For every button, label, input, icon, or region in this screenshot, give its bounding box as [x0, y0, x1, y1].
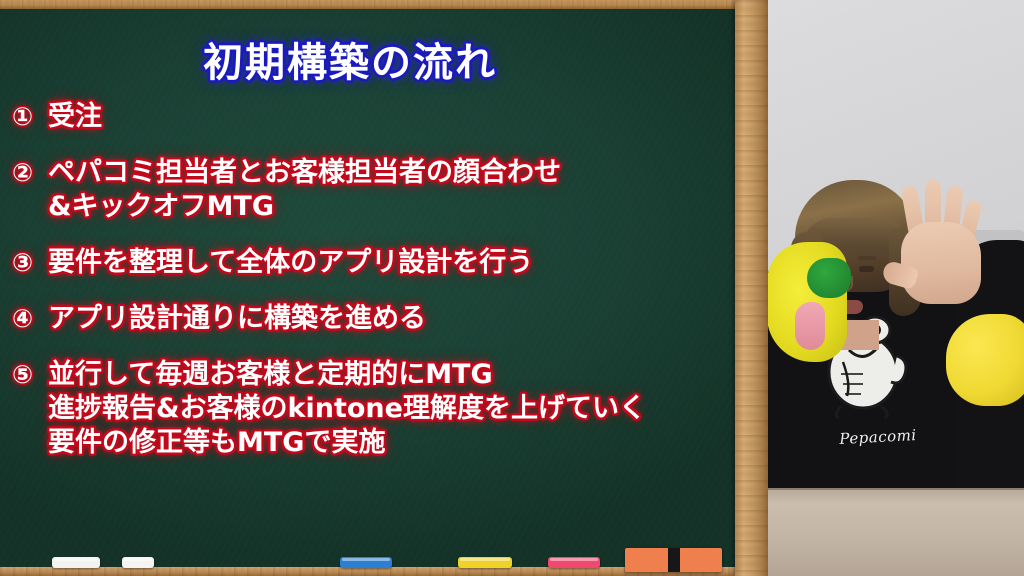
chalk-pink [548, 557, 600, 568]
list-item-lines: 受注 [48, 100, 728, 134]
slide-step-list: ① 受注 ② ペパコミ担当者とお客様担当者の顔合わせ &キックオフMTG ③ 要… [12, 100, 728, 482]
plush-toy-pink [795, 302, 825, 350]
plush-toy-yellow-2 [946, 314, 1024, 406]
list-item-marker: ② [12, 156, 48, 190]
list-item: ⑤ 並行して毎週お客様と定期的にMTG 進捗報告&お客様のkintone理解度を… [12, 358, 728, 460]
list-item-line: 受注 [48, 100, 728, 134]
list-item-line: アプリ設計通りに構築を進める [48, 302, 728, 336]
chalkboard-frame-top [0, 0, 768, 9]
presenter-eyebrow-right [858, 256, 876, 260]
list-item-line: 進捗報告&お客様のkintone理解度を上げていく [48, 392, 728, 426]
list-item: ② ペパコミ担当者とお客様担当者の顔合わせ &キックオフMTG [12, 156, 728, 224]
list-item-marker: ⑤ [12, 358, 48, 392]
list-item-marker: ③ [12, 246, 48, 280]
list-item-lines: アプリ設計通りに構築を進める [48, 302, 728, 336]
presenter: Pepacomi [767, 190, 1024, 490]
chalk-white-1 [52, 557, 100, 568]
chalk-yellow [458, 557, 512, 568]
list-item-lines: 要件を整理して全体のアプリ設計を行う [48, 246, 728, 280]
chalkboard-frame-right [735, 0, 768, 576]
presenter-raised-hand [891, 180, 995, 310]
screenshot-root: 初期構築の流れ ① 受注 ② ペパコミ担当者とお客様担当者の顔合わせ &キックオ… [0, 0, 1024, 576]
list-item: ④ アプリ設計通りに構築を進める [12, 302, 728, 336]
list-item-line: &キックオフMTG [48, 190, 728, 224]
presenter-video-pane: Pepacomi [767, 0, 1024, 576]
chalk-white-2 [122, 557, 154, 568]
list-item-line: 要件の修正等もMTGで実施 [48, 426, 728, 460]
list-item-lines: 並行して毎週お客様と定期的にMTG 進捗報告&お客様のkintone理解度を上げ… [48, 358, 728, 460]
eraser-band [668, 548, 680, 572]
desk-surface [767, 488, 1024, 576]
presenter-eye-right [859, 266, 874, 272]
list-item-marker: ① [12, 100, 48, 134]
list-item-line: ペパコミ担当者とお客様担当者の顔合わせ [48, 156, 728, 190]
list-item-line: 要件を整理して全体のアプリ設計を行う [48, 246, 728, 280]
slide-title: 初期構築の流れ [0, 30, 700, 88]
list-item-marker: ④ [12, 302, 48, 336]
palm [901, 222, 981, 304]
chalk-blue [340, 557, 392, 568]
blackboard-eraser [625, 548, 722, 572]
list-item-lines: ペパコミ担当者とお客様担当者の顔合わせ &キックオフMTG [48, 156, 728, 224]
list-item-line: 並行して毎週お客様と定期的にMTG [48, 358, 728, 392]
plush-toy-green [807, 258, 851, 298]
chalkboard: 初期構築の流れ ① 受注 ② ペパコミ担当者とお客様担当者の顔合わせ &キックオ… [0, 0, 768, 576]
list-item: ① 受注 [12, 100, 728, 134]
list-item: ③ 要件を整理して全体のアプリ設計を行う [12, 246, 728, 280]
